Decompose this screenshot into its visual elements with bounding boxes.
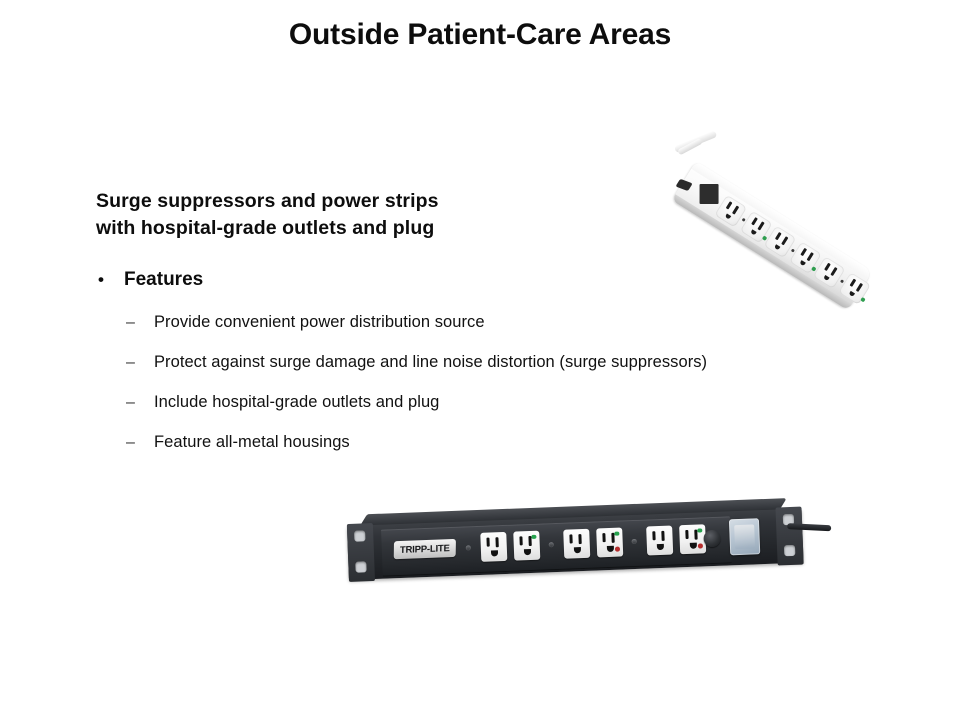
outlet-slot-right (781, 236, 788, 245)
power-cord (674, 130, 717, 153)
status-led-green-icon (531, 534, 536, 539)
outlet-ground-pin (606, 546, 613, 552)
outlet-ground-pin (774, 244, 781, 250)
outlet-slot-right (856, 282, 863, 291)
tripp-lite-logo-label: TRIPP-LITE (400, 543, 450, 556)
outlet-slot-left (519, 536, 522, 545)
status-led-green-icon (614, 531, 619, 536)
outlet-slot-right (732, 205, 739, 214)
rackmount-power-strip-photo: TRIPP-LITE (348, 512, 828, 617)
list-item-label: Feature all-metal housings (154, 430, 350, 455)
mounting-hole (784, 545, 795, 556)
outlet-slot-left (751, 217, 757, 225)
outlet-slot-right (758, 221, 765, 230)
list-item: – Protect against surge damage and line … (126, 350, 926, 375)
mounting-ear-right (775, 507, 803, 566)
outlet-ground-pin (724, 213, 731, 219)
outlet-slot-left (850, 279, 856, 287)
slide-canvas: Outside Patient-Care Areas Surge suppres… (0, 0, 960, 720)
white-surge-suppressor-photo (662, 118, 912, 318)
outlet (563, 529, 590, 559)
outlet-slot-left (486, 538, 489, 547)
outlet-slot-right (578, 534, 581, 544)
outlet-ground-pin (656, 544, 663, 550)
outlet-ground-pin (823, 274, 830, 280)
outlet-slot-right (807, 252, 814, 261)
outlet-ground-pin (573, 547, 580, 553)
power-cord-segment (677, 138, 703, 156)
outlet-slot-left (569, 534, 572, 543)
white-strip-body (672, 161, 873, 310)
outlet-slot-right (661, 530, 664, 540)
page-title: Outside Patient-Care Areas (0, 16, 960, 54)
status-led-red-icon (615, 547, 620, 552)
features-heading-label: Features (124, 267, 203, 293)
list-item: – Feature all-metal housings (126, 430, 926, 455)
status-led-red-icon (698, 543, 703, 548)
list-item-label: Provide convenient power distribution so… (154, 310, 485, 335)
dash-marker-icon: – (126, 390, 154, 415)
outlet-ground-pin (523, 549, 530, 555)
outlet-ground-pin (689, 543, 696, 549)
outlet-slot-left (652, 531, 655, 540)
dash-marker-icon: – (126, 310, 154, 335)
subtitle-line-1: Surge suppressors and power strips (96, 188, 439, 215)
bullet-marker-icon: • (98, 267, 124, 293)
outlet-slot-left (800, 248, 806, 256)
hospital-grade-indicator-icon (860, 297, 865, 302)
mounting-hole (355, 561, 366, 572)
outlet-slot-right (831, 266, 838, 275)
dash-marker-icon: – (126, 430, 154, 455)
list-item: – Include hospital-grade outlets and plu… (126, 390, 926, 415)
features-heading-row: • Features (98, 267, 203, 293)
tripp-lite-logo-icon (700, 184, 719, 204)
outlet-slot-left (726, 201, 732, 209)
tripp-lite-logo-badge: TRIPP-LITE (394, 539, 456, 559)
outlet (646, 526, 673, 556)
circuit-breaker-cover[interactable] (729, 518, 760, 555)
outlet-slot-right (495, 537, 498, 547)
outlet (596, 527, 623, 557)
outlet-slot-left (775, 232, 781, 240)
outlet-slot-left (824, 263, 830, 271)
list-item-label: Include hospital-grade outlets and plug (154, 390, 439, 415)
breaker-window (734, 524, 755, 549)
outlet-ground-pin (848, 290, 855, 296)
subtitle-block: Surge suppressors and power strips with … (96, 188, 439, 242)
dash-marker-icon: – (126, 350, 154, 375)
features-list: – Provide convenient power distribution … (126, 310, 926, 470)
mounting-hole (354, 530, 365, 541)
subtitle-line-2: with hospital-grade outlets and plug (96, 215, 439, 242)
outlet-slot-left (685, 530, 688, 539)
outlet (513, 531, 540, 561)
list-item-label: Protect against surge damage and line no… (154, 350, 707, 375)
rack-pdu-body: TRIPP-LITE (347, 509, 804, 584)
outlet-ground-pin (799, 259, 806, 265)
status-led-green-icon (697, 528, 702, 533)
outlet-ground-pin (750, 229, 757, 235)
outlet (480, 532, 507, 562)
outlet-slot-left (602, 533, 605, 542)
outlet-ground-pin (490, 550, 497, 556)
outlet (679, 524, 706, 554)
mounting-ear-left (347, 523, 375, 582)
